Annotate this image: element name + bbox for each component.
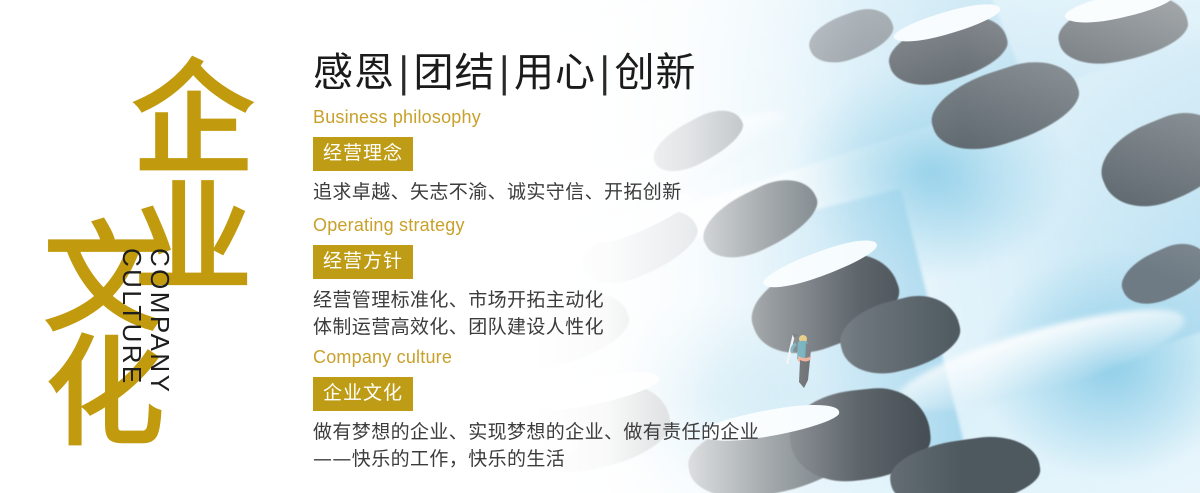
section-line: 体制运营高效化、团队建设人性化 bbox=[313, 314, 783, 341]
section-english-heading: Business philosophy bbox=[313, 104, 783, 131]
calligraphy-char-qi: 企 bbox=[132, 58, 254, 180]
headline: 感恩|团结|用心|创新 bbox=[313, 40, 696, 98]
copy-column: 感恩|团结|用心|创新 Business philosophy 经营理念 追求卓… bbox=[309, 0, 779, 493]
vertical-english-label: COMPANY CULTURE bbox=[118, 248, 174, 478]
section-line: 追求卓越、矢志不渝、诚实守信、开拓创新 bbox=[313, 179, 783, 206]
company-culture-logo: 企 业 文 化 COMPANY CULTURE bbox=[22, 52, 252, 452]
headline-part-4: 创新 bbox=[614, 50, 696, 96]
headline-separator: | bbox=[596, 50, 614, 96]
vertical-label-culture: CULTURE bbox=[118, 248, 146, 478]
section-lines: 经营管理标准化、市场开拓主动化 体制运营高效化、团队建设人性化 bbox=[313, 287, 783, 341]
section-english-heading: Company culture bbox=[313, 344, 783, 371]
headline-separator: | bbox=[395, 50, 413, 96]
section-badge: 企业文化 bbox=[313, 377, 413, 411]
climber-figure bbox=[782, 330, 822, 400]
section-operating-strategy: Operating strategy 经营方针 经营管理标准化、市场开拓主动化 … bbox=[313, 212, 783, 341]
section-company-culture: Company culture 企业文化 做有梦想的企业、实现梦想的企业、做有责… bbox=[313, 344, 783, 473]
section-line: ——快乐的工作，快乐的生活 bbox=[313, 446, 783, 473]
section-business-philosophy: Business philosophy 经营理念 追求卓越、矢志不渝、诚实守信、… bbox=[313, 104, 783, 206]
section-lines: 追求卓越、矢志不渝、诚实守信、开拓创新 bbox=[313, 179, 783, 206]
section-badge: 经营方针 bbox=[313, 245, 413, 279]
vertical-label-company: COMPANY bbox=[146, 248, 174, 478]
section-badge: 经营理念 bbox=[313, 137, 413, 171]
headline-part-1: 感恩 bbox=[313, 50, 395, 96]
section-english-heading: Operating strategy bbox=[313, 212, 783, 239]
section-lines: 做有梦想的企业、实现梦想的企业、做有责任的企业 ——快乐的工作，快乐的生活 bbox=[313, 419, 783, 473]
section-line: 经营管理标准化、市场开拓主动化 bbox=[313, 287, 783, 314]
section-line: 做有梦想的企业、实现梦想的企业、做有责任的企业 bbox=[313, 419, 783, 446]
company-culture-banner: 企 业 文 化 COMPANY CULTURE 感恩|团结|用心|创新 Busi… bbox=[0, 0, 1200, 493]
headline-separator: | bbox=[495, 50, 513, 96]
headline-part-2: 团结 bbox=[413, 50, 495, 96]
headline-part-3: 用心 bbox=[514, 50, 596, 96]
